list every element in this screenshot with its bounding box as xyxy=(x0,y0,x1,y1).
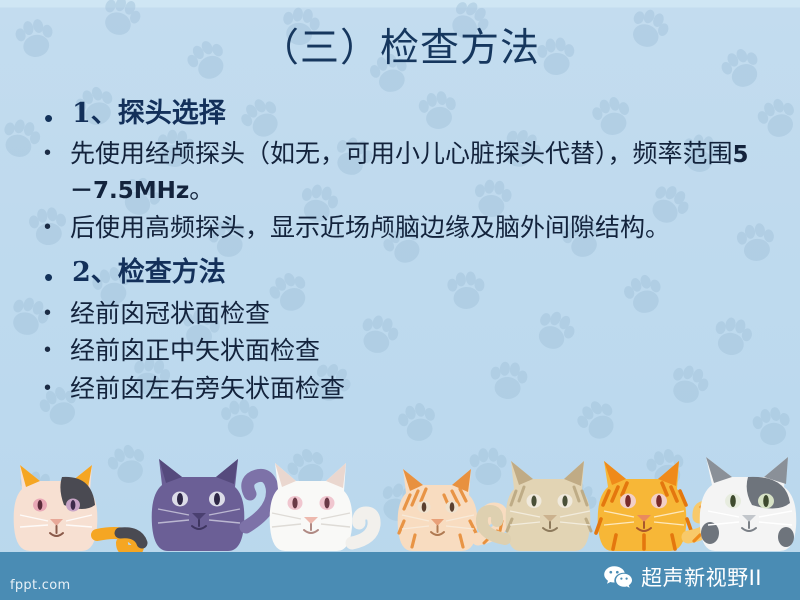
bullet-marker: • xyxy=(44,210,70,237)
list-item-probe-frequency: • 先使用经颅探头（如无，可用小儿心脏探头代替），频率范围5－7.5MHz。 xyxy=(44,136,760,207)
list-item-heading-2: • 2、检查方法 xyxy=(44,255,760,291)
slide-canvas: （三）检查方法 • 1、探头选择 • 先使用经颅探头（如无，可用小儿心脏探头代替… xyxy=(0,0,800,600)
list-item-parasagittal-plane: • 经前囟左右旁矢状面检查 xyxy=(44,371,760,407)
tiger-cat xyxy=(596,461,714,551)
list-item-text: 先使用经颅探头（如无，可用小儿心脏探头代替），频率范围5－7.5MHz。 xyxy=(70,136,760,207)
list-item-midsagittal-plane: • 经前囟正中矢状面检查 xyxy=(44,333,760,369)
bullet-marker: • xyxy=(44,96,72,131)
text-segment-after: 。 xyxy=(189,175,214,204)
list-item-text: 经前囟左右旁矢状面检查 xyxy=(70,371,760,407)
bullet-marker: • xyxy=(44,333,70,360)
list-item-coronal-plane: • 经前囟冠状面检查 xyxy=(44,296,760,332)
footer-bar: fppt.com 超声新视野II xyxy=(0,552,800,600)
slide-title: （三）检查方法 xyxy=(0,28,800,71)
source-watermark: fppt.com xyxy=(10,578,70,593)
cat-illustration-strip xyxy=(0,447,800,552)
text-segment-before: 先使用经颅探头（如无，可用小儿心脏探头代替），频率范围 xyxy=(70,139,733,168)
list-item-text: 后使用高频探头，显示近场颅脑边缘及脑外间隙结构。 xyxy=(70,210,760,246)
purple-cat xyxy=(152,459,273,551)
list-item-high-frequency-probe: • 后使用高频探头，显示近场颅脑边缘及脑外间隙结构。 xyxy=(44,210,760,246)
bullet-marker: • xyxy=(44,371,70,398)
calico-cat xyxy=(14,465,142,551)
list-item-text: 经前囟正中矢状面检查 xyxy=(70,333,760,369)
white-cat xyxy=(270,463,374,551)
brand-name: 超声新视野II xyxy=(641,562,762,592)
slide-body: • 1、探头选择 • 先使用经颅探头（如无，可用小儿心脏探头代替），频率范围5－… xyxy=(44,96,760,408)
list-item-text: 2、检查方法 xyxy=(72,255,760,291)
wechat-icon xyxy=(603,565,633,589)
bullet-marker: • xyxy=(44,296,70,323)
bullet-marker: • xyxy=(44,136,70,163)
list-item-text: 经前囟冠状面检查 xyxy=(70,296,760,332)
brand-watermark: 超声新视野II xyxy=(603,562,762,592)
bullet-marker: • xyxy=(44,255,72,290)
list-item-heading-1: • 1、探头选择 xyxy=(44,96,760,132)
list-item-text: 1、探头选择 xyxy=(72,96,760,132)
grey-white-cat xyxy=(700,457,797,551)
